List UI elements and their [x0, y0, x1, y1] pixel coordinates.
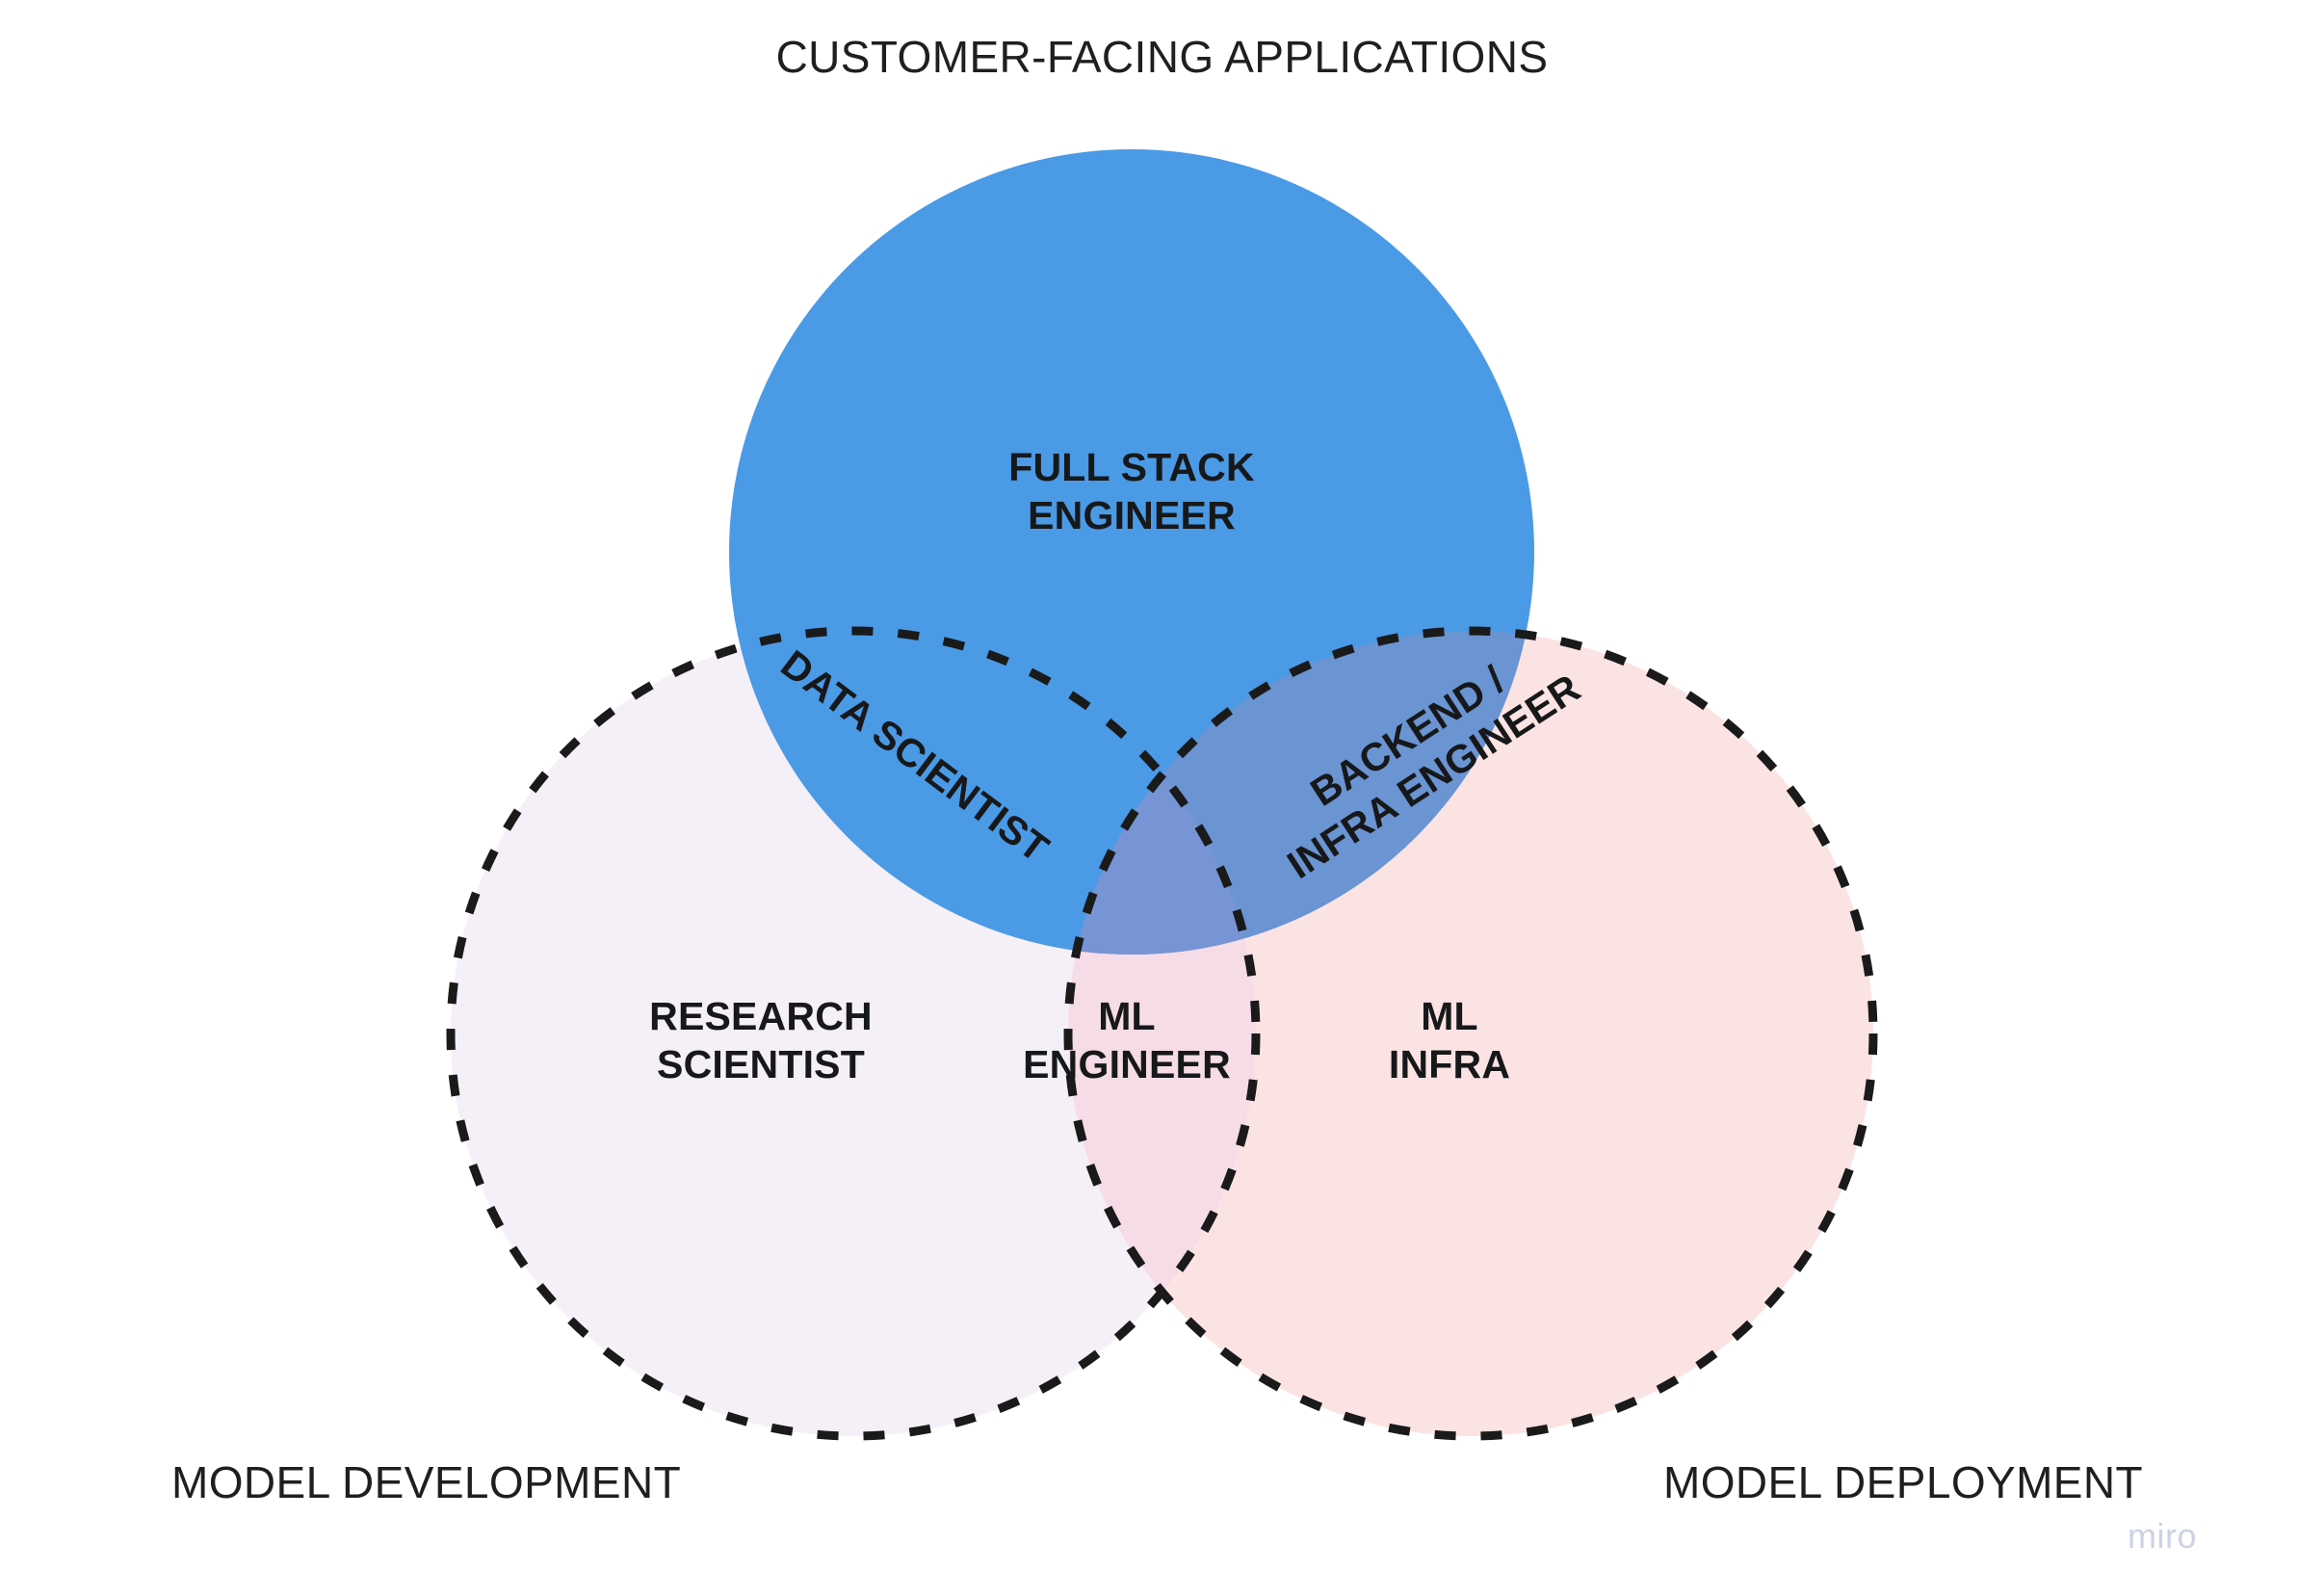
venn-circles-svg	[0, 0, 2324, 1596]
miro-watermark: miro	[2128, 1516, 2197, 1557]
region-label-research-scientist: RESEARCH SCIENTIST	[549, 992, 973, 1088]
axis-label-customer-facing-applications: CUSTOMER-FACING APPLICATIONS	[0, 31, 2324, 83]
axis-label-model-development: MODEL DEVELOPMENT	[171, 1456, 681, 1508]
region-label-ml-engineer: ML ENGINEER	[963, 992, 1291, 1088]
region-label-full-stack-engineer: FULL STACK ENGINEER	[862, 443, 1401, 539]
venn-diagram: CUSTOMER-FACING APPLICATIONS MODEL DEVEL…	[0, 0, 2324, 1596]
axis-label-model-deployment: MODEL DEPLOYMENT	[1663, 1456, 2143, 1508]
region-label-ml-infra: ML INFRA	[1257, 992, 1642, 1088]
